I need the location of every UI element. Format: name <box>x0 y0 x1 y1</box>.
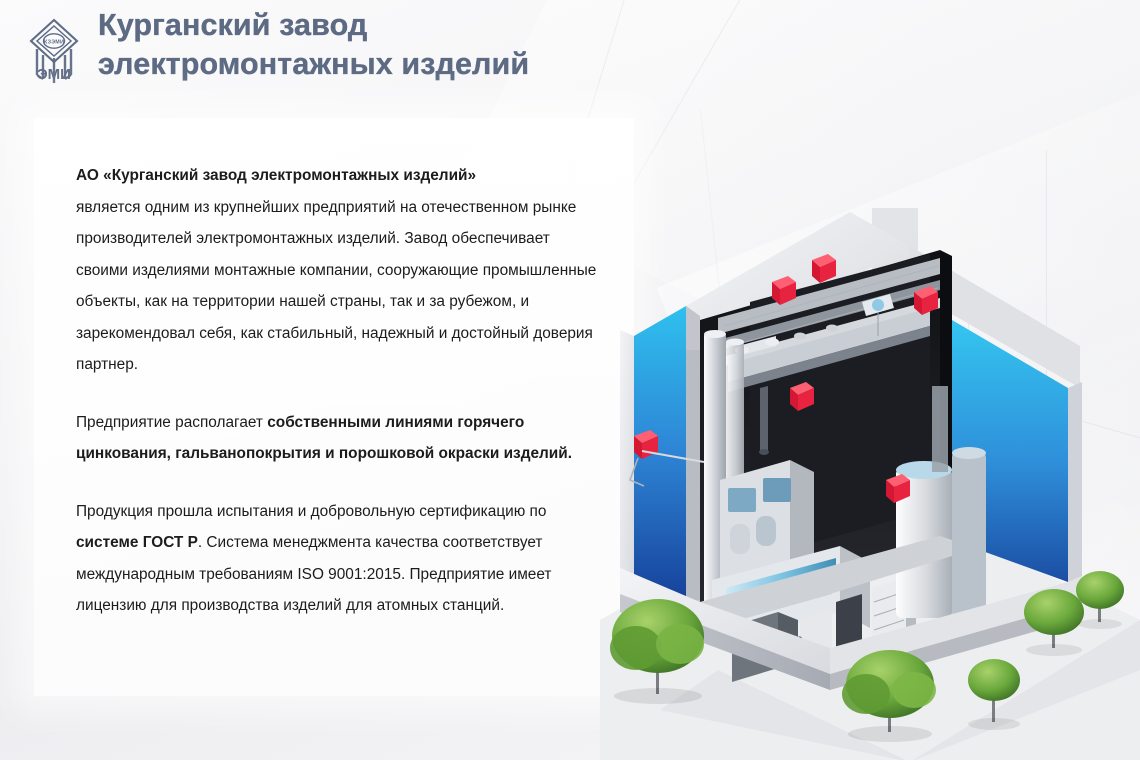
paragraph-2: Предприятие располагает собственными лин… <box>76 407 606 470</box>
body-copy: АО «Курганский завод электромонтажных из… <box>76 160 606 622</box>
paragraph-3: Продукция прошла испытания и добровольну… <box>76 496 606 622</box>
company-name-lead: АО «Курганский завод электромонтажных из… <box>76 160 606 192</box>
kzemi-diamond-logo: КЗЭМИ ЭМИ <box>26 17 82 87</box>
page-title-line-1: Курганский завод <box>98 6 678 45</box>
page-title: Курганский завод электромонтажных издели… <box>98 6 678 83</box>
paragraph-1-body: является одним из крупнейших предприятий… <box>76 199 596 374</box>
page-header: КЗЭМИ ЭМИ Курганский завод электромонтаж… <box>0 0 700 102</box>
paragraph-3-strong: системе ГОСТ Р <box>76 534 198 551</box>
logo-letters: ЭМИ <box>37 66 71 83</box>
isometric-factory-cutaway <box>600 150 1140 760</box>
svg-text:КЗЭМИ: КЗЭМИ <box>44 39 64 45</box>
slide-canvas: КЗЭМИ ЭМИ Курганский завод электромонтаж… <box>0 0 1140 760</box>
paragraph-3-pre: Продукция прошла испытания и добровольну… <box>76 503 546 520</box>
paragraph-2-pre: Предприятие располагает <box>76 414 267 431</box>
paragraph-1: АО «Курганский завод электромонтажных из… <box>76 160 606 381</box>
page-title-line-2: электромонтажных изделий <box>98 45 678 84</box>
